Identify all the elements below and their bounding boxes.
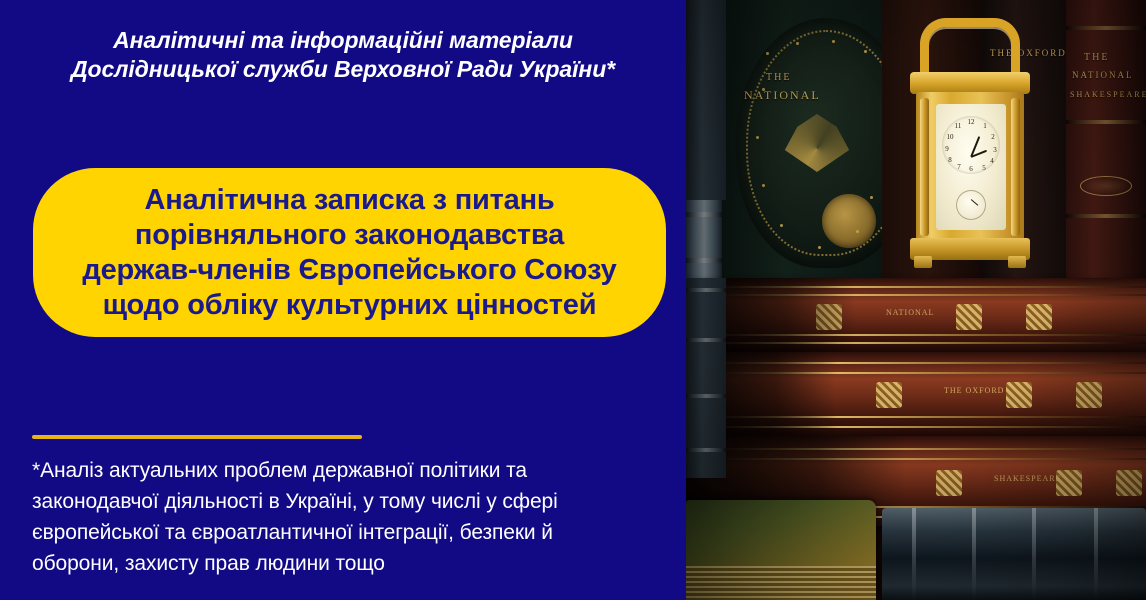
- spine-text-the-2: THE: [766, 72, 791, 83]
- spine-lozenge-ornament: [1080, 176, 1132, 196]
- spine-text-the-3: THE: [1084, 52, 1109, 63]
- left-content-panel: Аналітичні та інформаційні матеріали Дос…: [0, 0, 686, 600]
- title-card: Аналітична записка з питань порівняльног…: [33, 168, 666, 337]
- clock-numeral-1: 1: [980, 122, 990, 131]
- clock-numeral-2: 2: [988, 133, 998, 142]
- gold-divider-rule: [32, 435, 362, 439]
- clock-numeral-11: 11: [953, 122, 963, 131]
- stack-gilt-text-2: THE OXFORD: [944, 386, 1004, 395]
- title-line-1: Аналітична записка з питань: [144, 183, 554, 218]
- clock-numeral-10: 10: [945, 133, 955, 142]
- crest-ornament: [782, 114, 852, 172]
- clock-foot-left: [914, 256, 932, 268]
- carriage-clock: 12 1 2 3 4 5 6 7 8 9 10 11: [908, 18, 1032, 280]
- footnote-line-3: європейської та євроатлантичної інтеграц…: [32, 517, 662, 548]
- book-spine-shakespeare: THE NATIONAL SHAKESPEARE: [1066, 0, 1146, 288]
- header-line-2: Дослідницької служби Верховної Ради Укра…: [10, 55, 676, 84]
- spine-text-shakespeare: SHAKESPEARE: [1070, 90, 1146, 99]
- title-line-3: держав-членів Європейського Союзу: [82, 253, 616, 288]
- clock-numeral-3: 3: [990, 146, 1000, 155]
- spine-text-national-2: NATIONAL: [744, 88, 821, 103]
- clock-numeral-8: 8: [945, 156, 955, 165]
- clock-numeral-6: 6: [966, 165, 976, 174]
- title-line-4: щодо обліку культурних цінностей: [103, 288, 597, 323]
- photo-inner: THE NATIONAL: [686, 0, 1146, 600]
- clock-foot-right: [1008, 256, 1026, 268]
- books-and-clock-photo: THE NATIONAL: [686, 0, 1146, 600]
- blue-gilt-book: [882, 508, 1146, 600]
- clock-numeral-7: 7: [954, 163, 964, 172]
- clock-handle: [920, 18, 1020, 76]
- slide-root: THE NATIONAL: [0, 0, 1146, 600]
- spine-text-national-3: NATIONAL: [1072, 70, 1134, 80]
- clock-numeral-9: 9: [942, 145, 952, 154]
- stacked-book-1: NATIONAL: [686, 278, 1146, 352]
- clock-dial: 12 1 2 3 4 5 6 7 8 9 10 11: [942, 116, 1000, 174]
- footnote-line-2: законодавчої діяльності в Україні, у том…: [32, 486, 662, 517]
- stacked-book-2: THE OXFORD: [686, 352, 1146, 436]
- clock-top-cornice: [910, 72, 1030, 94]
- clock-numeral-5: 5: [979, 164, 989, 173]
- gilt-seal: [822, 194, 876, 248]
- footnote-block: *Аналіз актуальних проблем державної пол…: [32, 455, 662, 579]
- clock-face: 12 1 2 3 4 5 6 7 8 9 10 11: [936, 104, 1006, 230]
- book-spine-ornate-dark: THE NATIONAL: [722, 0, 882, 288]
- header-line-1: Аналітичні та інформаційні матеріали: [10, 26, 676, 55]
- clock-numeral-12: 12: [966, 118, 976, 127]
- clock-subdial: [956, 190, 986, 220]
- clock-body: 12 1 2 3 4 5 6 7 8 9 10 11: [916, 92, 1024, 242]
- stack-gilt-text-1: NATIONAL: [886, 308, 934, 317]
- header-block: Аналітичні та інформаційні матеріали Дос…: [0, 26, 686, 84]
- stack-gilt-text-3: SHAKESPEARE: [994, 474, 1061, 483]
- title-line-2: порівняльного законодавства: [135, 218, 564, 253]
- footnote-line-1: *Аналіз актуальних проблем державної пол…: [32, 455, 662, 486]
- footnote-line-4: оборони, захисту прав людини тощо: [32, 548, 662, 579]
- left-edge-book: [686, 278, 726, 478]
- green-gilt-book: [686, 500, 876, 600]
